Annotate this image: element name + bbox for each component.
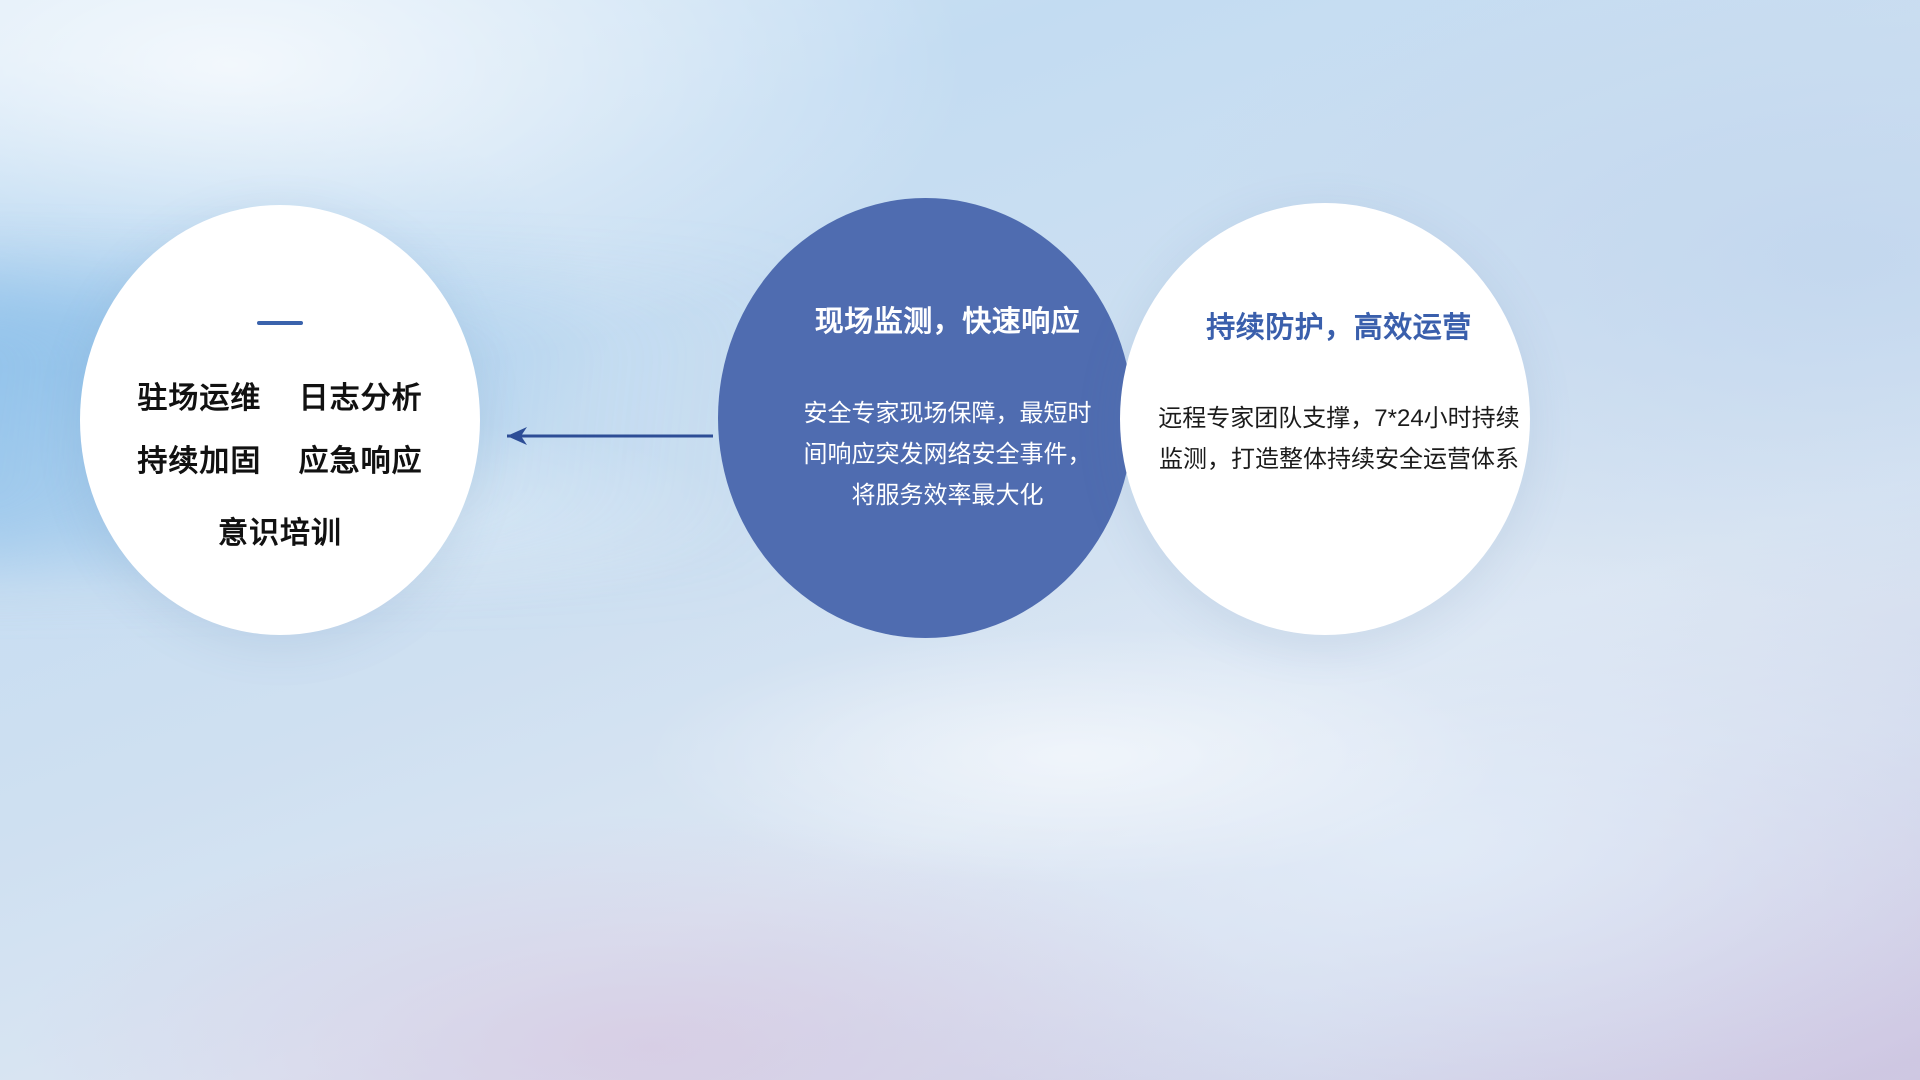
middle-circle-card[interactable] (718, 198, 1133, 638)
arrow-left-icon (485, 418, 715, 454)
left-circle-card[interactable] (80, 205, 480, 635)
right-circle-card[interactable] (1120, 203, 1530, 635)
